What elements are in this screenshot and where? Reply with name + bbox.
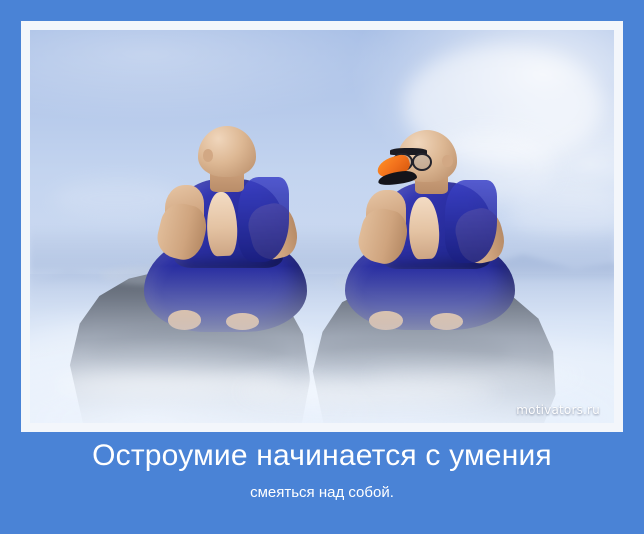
monk-left-foot bbox=[226, 313, 259, 330]
monk-left bbox=[153, 132, 305, 344]
monk-right-robe-drape bbox=[445, 180, 497, 263]
caption-subtitle: смеяться над собой. bbox=[0, 485, 644, 502]
photo-frame: motivators.ru bbox=[21, 21, 623, 432]
watermark: motivators.ru bbox=[516, 403, 600, 417]
monk-right-foot bbox=[369, 311, 402, 330]
monk-left-robe-drape bbox=[238, 177, 290, 262]
monk-left-foot bbox=[168, 310, 201, 329]
caption-block: Остроумие начинается с умения смеяться н… bbox=[0, 440, 644, 502]
caption-title: Остроумие начинается с умения bbox=[0, 440, 644, 472]
monk-right-foot bbox=[430, 313, 463, 330]
monk-right-ear bbox=[442, 155, 453, 167]
photograph: motivators.ru bbox=[30, 30, 614, 423]
monk-right bbox=[357, 136, 509, 344]
monk-left-ear bbox=[203, 149, 214, 162]
motivational-poster: motivators.ru Остроумие начинается с уме… bbox=[0, 0, 644, 534]
